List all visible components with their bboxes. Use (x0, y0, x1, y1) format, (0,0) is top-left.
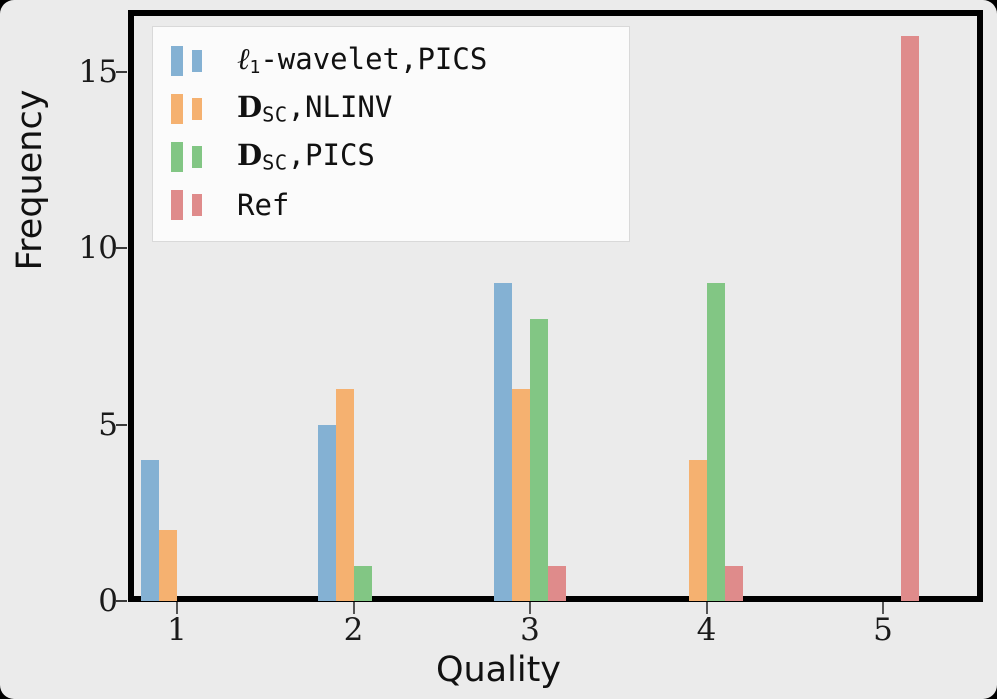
x-tick-mark-3 (529, 602, 531, 614)
x-tick-label-4: 4 (697, 612, 717, 648)
x-tick-mark-4 (706, 602, 708, 614)
bar-dsc-pics-q4 (707, 283, 725, 601)
figure-canvas: Frequency 051015 Quality ℓ1-wavelet,PICS… (0, 0, 997, 699)
legend-item-ref: Ref (167, 181, 615, 229)
x-axis-title: Quality (0, 650, 997, 690)
legend-label-dsc-nlinv: DSC,NLINV (237, 93, 392, 125)
bar-l1-wavelet-pics-q1 (141, 460, 159, 601)
y-tick-mark-5 (116, 424, 127, 426)
legend-item-dsc-nlinv: DSC,NLINV (167, 85, 615, 133)
bar-dsc-nlinv-q4 (689, 460, 707, 601)
bar-l1-wavelet-pics-q2 (318, 425, 336, 602)
y-axis-ticks: 051015 (0, 0, 118, 699)
x-tick-label-1: 1 (167, 612, 187, 648)
x-tick-mark-2 (353, 602, 355, 614)
y-tick-label-15: 15 (79, 54, 118, 90)
legend-label-l1-wavelet-pics: ℓ1-wavelet,PICS (237, 45, 487, 77)
bar-ref-q5 (901, 36, 919, 601)
chart-legend: ℓ1-wavelet,PICS DSC,NLINV DSC,PICS Ref (152, 26, 630, 242)
bar-dsc-nlinv-q2 (336, 389, 354, 601)
x-tick-label-5: 5 (873, 612, 893, 648)
legend-swatch-dsc-pics (167, 142, 237, 172)
y-tick-mark-10 (116, 247, 127, 249)
x-tick-mark-1 (176, 602, 178, 614)
legend-item-dsc-pics: DSC,PICS (167, 133, 615, 181)
legend-swatch-dsc-nlinv (167, 94, 237, 124)
x-tick-mark-5 (882, 602, 884, 614)
bar-dsc-nlinv-q3 (512, 389, 530, 601)
bar-dsc-pics-q3 (530, 319, 548, 601)
legend-swatch-l1-wavelet-pics (167, 46, 237, 76)
y-tick-label-10: 10 (79, 230, 118, 266)
legend-item-l1-wavelet-pics: ℓ1-wavelet,PICS (167, 37, 615, 85)
bar-dsc-pics-q2 (354, 566, 372, 601)
y-tick-mark-0 (116, 600, 127, 602)
y-tick-mark-15 (116, 71, 127, 73)
legend-label-ref: Ref (237, 191, 289, 220)
bar-ref-q3 (548, 566, 566, 601)
bar-dsc-nlinv-q1 (159, 530, 177, 601)
legend-label-dsc-pics: DSC,PICS (237, 141, 375, 173)
bar-l1-wavelet-pics-q3 (494, 283, 512, 601)
x-tick-label-3: 3 (520, 612, 540, 648)
bar-ref-q4 (725, 566, 743, 601)
legend-swatch-ref (167, 190, 237, 220)
x-tick-label-2: 2 (344, 612, 364, 648)
